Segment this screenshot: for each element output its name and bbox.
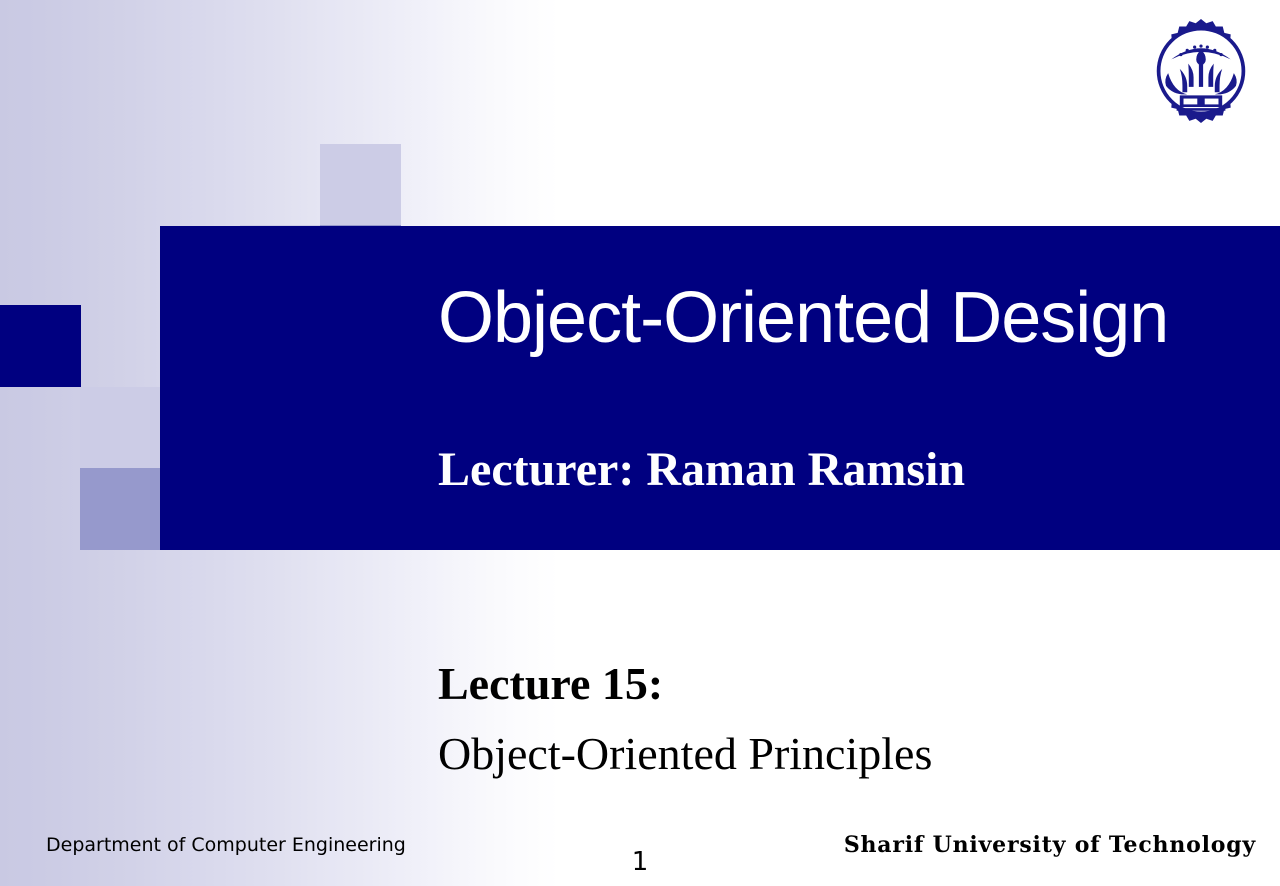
mosaic-tile xyxy=(320,144,401,226)
lecture-subject: Object-Oriented Principles xyxy=(438,718,1238,790)
lecture-heading-block: Lecture 15: Object-Oriented Principles xyxy=(438,650,1238,790)
slide: Object-Oriented Design Lecturer: Raman R… xyxy=(0,0,1280,886)
page-title: Object-Oriented Design xyxy=(438,278,1258,358)
lecture-number: Lecture 15: xyxy=(438,650,1238,718)
mosaic-tile xyxy=(0,305,81,387)
lecturer-line: Lecturer: Raman Ramsin xyxy=(438,440,1258,500)
mosaic-tile xyxy=(80,387,161,469)
mosaic-tile xyxy=(80,468,161,550)
title-banner xyxy=(160,226,1280,550)
sharif-university-logo-icon xyxy=(1148,18,1254,124)
footer-university: Sharif University of Technology xyxy=(844,832,1256,858)
